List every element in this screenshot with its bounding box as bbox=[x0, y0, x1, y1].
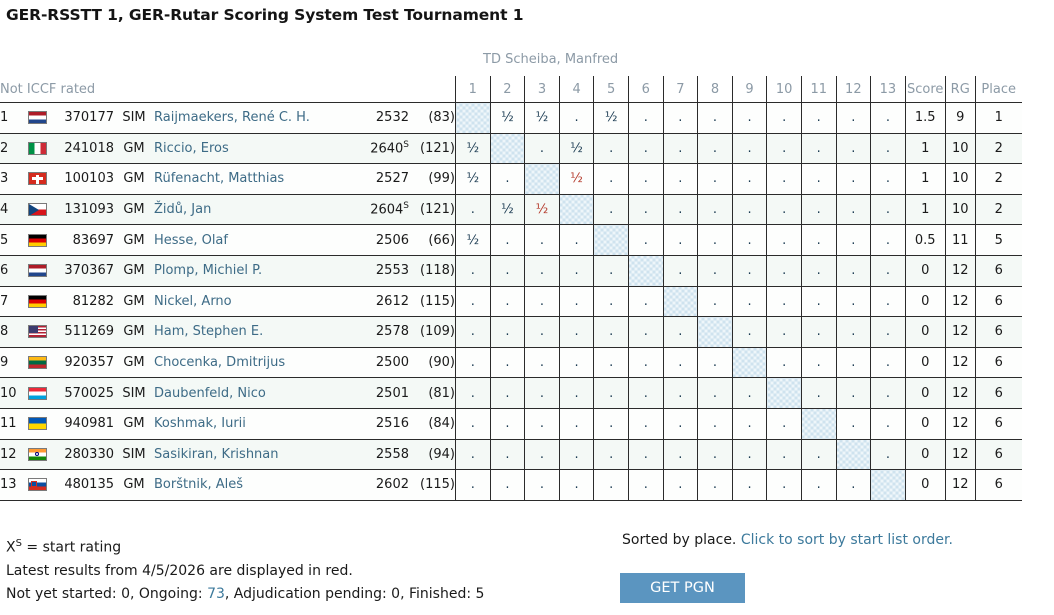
result-cell[interactable]: . bbox=[628, 133, 663, 164]
result-cell[interactable]: . bbox=[663, 470, 698, 501]
result-cell[interactable]: . bbox=[525, 378, 560, 409]
result-cell[interactable]: . bbox=[594, 408, 629, 439]
result-cell[interactable]: . bbox=[559, 225, 594, 256]
result-cell[interactable]: . bbox=[663, 164, 698, 195]
player-score: 1 bbox=[905, 133, 945, 164]
result-cell[interactable]: . bbox=[871, 225, 906, 256]
header-round-3: 3 bbox=[525, 76, 560, 103]
result-cell[interactable]: . bbox=[801, 103, 836, 134]
player-rg: 12 bbox=[945, 317, 975, 348]
legend-text: = start rating bbox=[22, 540, 121, 556]
result-cell[interactable]: . bbox=[801, 194, 836, 225]
result-cell[interactable]: . bbox=[456, 378, 491, 409]
result-cell[interactable]: . bbox=[698, 378, 733, 409]
result-cell[interactable]: . bbox=[801, 255, 836, 286]
result-cell[interactable]: . bbox=[871, 347, 906, 378]
result-cell[interactable]: . bbox=[732, 255, 767, 286]
result-cell[interactable]: . bbox=[663, 439, 698, 470]
result-cell[interactable]: . bbox=[628, 439, 663, 470]
result-cell[interactable]: . bbox=[628, 347, 663, 378]
player-place: 6 bbox=[975, 408, 1022, 439]
player-id[interactable]: 81282 bbox=[52, 286, 114, 317]
player-id[interactable]: 570025 bbox=[52, 378, 114, 409]
player-rank: 13 bbox=[0, 470, 22, 501]
result-cell[interactable]: . bbox=[767, 133, 802, 164]
country-flag-icon bbox=[22, 378, 52, 409]
result-cell[interactable]: ½ bbox=[456, 133, 491, 164]
result-cell[interactable]: . bbox=[490, 225, 525, 256]
result-cell[interactable]: . bbox=[698, 255, 733, 286]
flag-ger-icon bbox=[28, 295, 47, 308]
result-cell[interactable]: ½ bbox=[594, 103, 629, 134]
player-place: 2 bbox=[975, 133, 1022, 164]
result-cell[interactable]: . bbox=[801, 439, 836, 470]
player-place: 6 bbox=[975, 286, 1022, 317]
result-cell[interactable]: . bbox=[732, 164, 767, 195]
result-cell[interactable]: . bbox=[801, 317, 836, 348]
result-cell[interactable]: . bbox=[559, 286, 594, 317]
player-name[interactable]: Hesse, Olaf bbox=[154, 225, 349, 256]
player-games-count: (115) bbox=[409, 470, 456, 501]
player-title: GM bbox=[114, 194, 154, 225]
result-cell[interactable]: . bbox=[628, 194, 663, 225]
result-cell[interactable]: . bbox=[767, 347, 802, 378]
player-id[interactable]: 131093 bbox=[52, 194, 114, 225]
result-cell[interactable]: . bbox=[594, 255, 629, 286]
country-flag-icon bbox=[22, 439, 52, 470]
result-cell[interactable]: . bbox=[767, 470, 802, 501]
result-cell[interactable]: . bbox=[698, 470, 733, 501]
result-cell-self bbox=[559, 194, 594, 225]
result-cell[interactable]: ½ bbox=[559, 133, 594, 164]
result-cell[interactable]: ½ bbox=[525, 103, 560, 134]
result-cell[interactable]: . bbox=[836, 255, 871, 286]
player-title: GM bbox=[114, 347, 154, 378]
result-cell[interactable]: . bbox=[698, 194, 733, 225]
result-cell[interactable]: . bbox=[525, 255, 560, 286]
result-cell[interactable]: . bbox=[732, 439, 767, 470]
player-rg: 12 bbox=[945, 255, 975, 286]
result-cell-self bbox=[525, 164, 560, 195]
result-cell[interactable]: . bbox=[525, 286, 560, 317]
result-cell[interactable]: . bbox=[456, 439, 491, 470]
header-place[interactable]: Place bbox=[975, 76, 1022, 103]
result-cell[interactable]: . bbox=[594, 439, 629, 470]
result-cell[interactable]: . bbox=[836, 286, 871, 317]
player-rating: 2500 bbox=[349, 347, 409, 378]
header-round-8: 8 bbox=[698, 76, 733, 103]
result-cell[interactable]: . bbox=[456, 255, 491, 286]
result-cell[interactable]: . bbox=[559, 378, 594, 409]
player-place: 5 bbox=[975, 225, 1022, 256]
player-games-count: (109) bbox=[409, 317, 456, 348]
player-title: GM bbox=[114, 164, 154, 195]
result-cell[interactable]: . bbox=[628, 408, 663, 439]
result-cell[interactable]: . bbox=[559, 255, 594, 286]
page-title: GER-RSSTT 1, GER-Rutar Scoring System Te… bbox=[6, 6, 523, 24]
result-cell[interactable]: . bbox=[836, 408, 871, 439]
result-cell[interactable]: . bbox=[698, 103, 733, 134]
result-cell[interactable]: . bbox=[698, 133, 733, 164]
get-pgn-button[interactable]: GET PGN bbox=[620, 573, 745, 603]
result-cell[interactable]: . bbox=[490, 347, 525, 378]
player-score: 0 bbox=[905, 286, 945, 317]
player-id[interactable]: 83697 bbox=[52, 225, 114, 256]
player-rg: 12 bbox=[945, 347, 975, 378]
result-cell[interactable]: . bbox=[836, 164, 871, 195]
player-rank: 6 bbox=[0, 255, 22, 286]
result-cell[interactable]: . bbox=[801, 470, 836, 501]
result-cell[interactable]: . bbox=[559, 317, 594, 348]
result-cell[interactable]: . bbox=[663, 347, 698, 378]
result-cell[interactable]: . bbox=[525, 317, 560, 348]
player-name[interactable]: Plomp, Michiel P. bbox=[154, 255, 349, 286]
player-rank: 9 bbox=[0, 347, 22, 378]
player-rating: 2604S bbox=[349, 194, 409, 225]
result-cell[interactable]: . bbox=[801, 225, 836, 256]
result-cell[interactable]: . bbox=[663, 317, 698, 348]
result-cell[interactable]: . bbox=[871, 164, 906, 195]
player-rating: 2553 bbox=[349, 255, 409, 286]
result-cell[interactable]: . bbox=[525, 408, 560, 439]
result-cell[interactable]: . bbox=[490, 470, 525, 501]
result-cell-self bbox=[628, 255, 663, 286]
result-cell[interactable]: . bbox=[767, 225, 802, 256]
result-cell[interactable]: . bbox=[871, 133, 906, 164]
player-rank: 3 bbox=[0, 164, 22, 195]
result-cell[interactable]: . bbox=[836, 225, 871, 256]
result-cell[interactable]: . bbox=[628, 317, 663, 348]
result-cell[interactable]: . bbox=[767, 439, 802, 470]
result-cell[interactable]: ½ bbox=[490, 103, 525, 134]
result-cell[interactable]: . bbox=[732, 378, 767, 409]
result-cell-self bbox=[836, 439, 871, 470]
player-rating: 2612 bbox=[349, 286, 409, 317]
player-score: 1.5 bbox=[905, 103, 945, 134]
result-cell[interactable]: . bbox=[801, 378, 836, 409]
result-cell[interactable]: . bbox=[732, 286, 767, 317]
result-cell[interactable]: . bbox=[836, 470, 871, 501]
result-cell[interactable]: . bbox=[490, 408, 525, 439]
result-cell[interactable]: . bbox=[836, 317, 871, 348]
player-id[interactable]: 370177 bbox=[52, 103, 114, 134]
table-row: 6370367GMPlomp, Michiel P.2553(118).....… bbox=[0, 255, 1022, 286]
result-cell[interactable]: . bbox=[801, 164, 836, 195]
player-rg: 12 bbox=[945, 439, 975, 470]
country-flag-icon bbox=[22, 164, 52, 195]
player-place: 6 bbox=[975, 255, 1022, 286]
flag-slo-icon bbox=[28, 478, 47, 491]
result-cell[interactable]: . bbox=[698, 286, 733, 317]
result-cell[interactable]: . bbox=[801, 133, 836, 164]
flag-sui-icon bbox=[28, 172, 47, 185]
flag-lux-icon bbox=[28, 387, 47, 400]
result-cell[interactable]: . bbox=[732, 317, 767, 348]
result-cell[interactable]: . bbox=[628, 378, 663, 409]
ongoing-count[interactable]: 73 bbox=[207, 586, 225, 602]
result-cell[interactable]: ½ bbox=[456, 164, 491, 195]
result-cell[interactable]: . bbox=[594, 164, 629, 195]
player-name[interactable]: Židů, Jan bbox=[154, 194, 349, 225]
player-id[interactable]: 940981 bbox=[52, 408, 114, 439]
result-cell[interactable]: . bbox=[663, 133, 698, 164]
result-cell[interactable]: . bbox=[594, 286, 629, 317]
result-cell[interactable]: . bbox=[559, 408, 594, 439]
flag-ukr-icon bbox=[28, 417, 47, 430]
table-row: 13480135GMBorštnik, Aleš2602(115).......… bbox=[0, 470, 1022, 501]
player-name[interactable]: Sasikiran, Krishnan bbox=[154, 439, 349, 470]
player-games-count: (94) bbox=[409, 439, 456, 470]
result-cell[interactable]: . bbox=[525, 225, 560, 256]
result-cell[interactable]: . bbox=[628, 225, 663, 256]
header-row: Not ICCF rated 12345678910111213ScoreRGP… bbox=[0, 76, 1022, 103]
player-id[interactable]: 480135 bbox=[52, 470, 114, 501]
not-iccf-rated-label: Not ICCF rated bbox=[0, 76, 456, 103]
result-cell[interactable]: . bbox=[767, 255, 802, 286]
result-cell[interactable]: . bbox=[490, 439, 525, 470]
country-flag-icon bbox=[22, 286, 52, 317]
player-name[interactable]: Riccio, Eros bbox=[154, 133, 349, 164]
result-cell[interactable]: . bbox=[871, 194, 906, 225]
player-title: GM bbox=[114, 470, 154, 501]
flag-ger-icon bbox=[28, 234, 47, 247]
country-flag-icon bbox=[22, 317, 52, 348]
player-id[interactable]: 370367 bbox=[52, 255, 114, 286]
table-row: 781282GMNickel, Arno2612(115)...........… bbox=[0, 286, 1022, 317]
sorted-by-label: Sorted by place. bbox=[622, 532, 741, 548]
result-cell[interactable]: . bbox=[559, 470, 594, 501]
player-name[interactable]: Nickel, Arno bbox=[154, 286, 349, 317]
player-id[interactable]: 280330 bbox=[52, 439, 114, 470]
result-cell[interactable]: . bbox=[698, 164, 733, 195]
result-cell[interactable]: . bbox=[663, 225, 698, 256]
flag-cze-icon bbox=[28, 203, 47, 216]
result-cell[interactable]: . bbox=[663, 378, 698, 409]
table-row: 4131093GMŽidů, Jan2604S(121).½½.........… bbox=[0, 194, 1022, 225]
result-cell[interactable]: . bbox=[767, 408, 802, 439]
player-rg: 12 bbox=[945, 408, 975, 439]
result-cell[interactable]: . bbox=[456, 470, 491, 501]
player-games-count: (81) bbox=[409, 378, 456, 409]
player-rank: 7 bbox=[0, 286, 22, 317]
player-rg: 11 bbox=[945, 225, 975, 256]
sort-by-start-list-link[interactable]: Click to sort by start list order. bbox=[741, 532, 953, 548]
result-cell-self bbox=[663, 286, 698, 317]
result-cell[interactable]: . bbox=[663, 408, 698, 439]
result-cell[interactable]: . bbox=[767, 103, 802, 134]
result-cell[interactable]: . bbox=[559, 347, 594, 378]
result-cell[interactable]: . bbox=[871, 378, 906, 409]
player-name[interactable]: Chocenka, Dmitrijus bbox=[154, 347, 349, 378]
result-cell[interactable]: . bbox=[525, 133, 560, 164]
result-cell[interactable]: . bbox=[490, 255, 525, 286]
header-round-1: 1 bbox=[456, 76, 491, 103]
result-cell[interactable]: . bbox=[801, 286, 836, 317]
result-cell[interactable]: . bbox=[767, 317, 802, 348]
result-cell[interactable]: . bbox=[594, 194, 629, 225]
player-games-count: (83) bbox=[409, 103, 456, 134]
player-rank: 10 bbox=[0, 378, 22, 409]
result-cell[interactable]: . bbox=[525, 439, 560, 470]
result-cell[interactable]: . bbox=[836, 347, 871, 378]
result-cell[interactable]: . bbox=[456, 194, 491, 225]
result-cell[interactable]: . bbox=[698, 347, 733, 378]
result-cell[interactable]: . bbox=[594, 470, 629, 501]
header-round-2: 2 bbox=[490, 76, 525, 103]
player-id[interactable]: 100103 bbox=[52, 164, 114, 195]
player-score: 0 bbox=[905, 317, 945, 348]
player-name[interactable]: Koshmak, Iurii bbox=[154, 408, 349, 439]
player-title: GM bbox=[114, 225, 154, 256]
result-cell[interactable]: . bbox=[594, 347, 629, 378]
player-place: 6 bbox=[975, 439, 1022, 470]
result-cell[interactable]: . bbox=[663, 103, 698, 134]
result-cell[interactable]: . bbox=[663, 194, 698, 225]
player-place: 6 bbox=[975, 470, 1022, 501]
result-cell[interactable]: . bbox=[732, 103, 767, 134]
player-rating: 2506 bbox=[349, 225, 409, 256]
country-flag-icon bbox=[22, 225, 52, 256]
result-cell[interactable]: ½ bbox=[456, 225, 491, 256]
player-rating: 2640S bbox=[349, 133, 409, 164]
result-cell[interactable]: . bbox=[871, 317, 906, 348]
player-rg: 9 bbox=[945, 103, 975, 134]
result-cell[interactable]: . bbox=[456, 408, 491, 439]
result-cell[interactable]: . bbox=[525, 347, 560, 378]
result-cell[interactable]: . bbox=[594, 133, 629, 164]
result-cell[interactable]: . bbox=[628, 164, 663, 195]
sort-info: Sorted by place. Click to sort by start … bbox=[622, 532, 953, 548]
crosstable-header: Not ICCF rated 12345678910111213ScoreRGP… bbox=[0, 76, 1022, 103]
player-title: SIM bbox=[114, 103, 154, 134]
result-cell[interactable]: . bbox=[594, 378, 629, 409]
result-cell[interactable]: . bbox=[767, 164, 802, 195]
result-cell[interactable]: . bbox=[836, 103, 871, 134]
result-cell[interactable]: . bbox=[732, 225, 767, 256]
result-cell[interactable]: . bbox=[490, 317, 525, 348]
result-cell[interactable]: . bbox=[525, 470, 560, 501]
result-cell[interactable]: . bbox=[490, 378, 525, 409]
player-rank: 2 bbox=[0, 133, 22, 164]
player-id[interactable]: 920357 bbox=[52, 347, 114, 378]
result-cell[interactable]: . bbox=[871, 439, 906, 470]
latest-results-note: Latest results from 4/5/2026 are display… bbox=[6, 560, 484, 583]
player-score: 1 bbox=[905, 164, 945, 195]
result-cell[interactable]: . bbox=[836, 378, 871, 409]
crosstable: Not ICCF rated 12345678910111213ScoreRGP… bbox=[0, 76, 1022, 501]
player-rating: 2532 bbox=[349, 103, 409, 134]
legend-x: X bbox=[6, 540, 16, 556]
player-games-count: (99) bbox=[409, 164, 456, 195]
player-name[interactable]: Ham, Stephen E. bbox=[154, 317, 349, 348]
result-cell[interactable]: ½ bbox=[559, 164, 594, 195]
result-cell[interactable]: . bbox=[594, 317, 629, 348]
result-cell[interactable]: . bbox=[456, 317, 491, 348]
country-flag-icon bbox=[22, 347, 52, 378]
table-row: 2241018GMRiccio, Eros2640S(121)½.½......… bbox=[0, 133, 1022, 164]
player-name[interactable]: Rüfenacht, Matthias bbox=[154, 164, 349, 195]
player-place: 1 bbox=[975, 103, 1022, 134]
player-rating: 2602 bbox=[349, 470, 409, 501]
crosstable-body: 1370177SIMRaijmaekers, René C. H.2532(83… bbox=[0, 103, 1022, 501]
result-cell[interactable]: . bbox=[732, 194, 767, 225]
result-cell[interactable]: . bbox=[456, 347, 491, 378]
tournament-director: TD Scheiba, Manfred bbox=[483, 52, 618, 67]
header-round-12: 12 bbox=[836, 76, 871, 103]
table-row: 1370177SIMRaijmaekers, René C. H.2532(83… bbox=[0, 103, 1022, 134]
result-cell[interactable]: . bbox=[698, 439, 733, 470]
header-round-9: 9 bbox=[732, 76, 767, 103]
table-row: 8511269GMHam, Stephen E.2578(109).......… bbox=[0, 317, 1022, 348]
header-score[interactable]: Score bbox=[905, 76, 945, 103]
player-place: 2 bbox=[975, 164, 1022, 195]
player-name[interactable]: Daubenfeld, Nico bbox=[154, 378, 349, 409]
result-cell[interactable]: . bbox=[767, 194, 802, 225]
result-cell[interactable]: . bbox=[698, 225, 733, 256]
result-cell[interactable]: . bbox=[490, 286, 525, 317]
result-cell[interactable]: . bbox=[628, 470, 663, 501]
player-games-count: (84) bbox=[409, 408, 456, 439]
table-row: 12280330SIMSasikiran, Krishnan2558(94)..… bbox=[0, 439, 1022, 470]
player-rating: 2501 bbox=[349, 378, 409, 409]
result-cell[interactable]: . bbox=[628, 103, 663, 134]
player-name[interactable]: Raijmaekers, René C. H. bbox=[154, 103, 349, 134]
result-cell[interactable]: . bbox=[628, 286, 663, 317]
player-rg: 12 bbox=[945, 378, 975, 409]
result-cell[interactable]: . bbox=[490, 164, 525, 195]
player-rg: 12 bbox=[945, 286, 975, 317]
player-score: 0 bbox=[905, 255, 945, 286]
result-cell[interactable]: . bbox=[871, 286, 906, 317]
player-place: 6 bbox=[975, 317, 1022, 348]
player-id[interactable]: 241018 bbox=[52, 133, 114, 164]
header-rg[interactable]: RG bbox=[945, 76, 975, 103]
player-rg: 10 bbox=[945, 194, 975, 225]
result-cell[interactable]: . bbox=[871, 103, 906, 134]
result-cell[interactable]: . bbox=[559, 103, 594, 134]
result-cell[interactable]: . bbox=[559, 439, 594, 470]
result-cell[interactable]: . bbox=[732, 408, 767, 439]
country-flag-icon bbox=[22, 103, 52, 134]
result-cell-self bbox=[456, 103, 491, 134]
result-cell[interactable]: ½ bbox=[525, 194, 560, 225]
result-cell[interactable]: . bbox=[663, 255, 698, 286]
player-score: 0 bbox=[905, 347, 945, 378]
result-cell[interactable]: . bbox=[871, 408, 906, 439]
player-rg: 12 bbox=[945, 470, 975, 501]
result-cell[interactable]: . bbox=[732, 470, 767, 501]
result-cell[interactable]: . bbox=[456, 286, 491, 317]
result-cell[interactable]: . bbox=[767, 286, 802, 317]
player-score: 0 bbox=[905, 378, 945, 409]
player-games-count: (90) bbox=[409, 347, 456, 378]
result-cell[interactable]: ½ bbox=[490, 194, 525, 225]
country-flag-icon bbox=[22, 255, 52, 286]
player-name[interactable]: Borštnik, Aleš bbox=[154, 470, 349, 501]
table-row: 583697GMHesse, Olaf2506(66)½...........0… bbox=[0, 225, 1022, 256]
result-cell[interactable]: . bbox=[698, 408, 733, 439]
result-cell[interactable]: . bbox=[836, 133, 871, 164]
player-place: 6 bbox=[975, 347, 1022, 378]
result-cell[interactable]: . bbox=[836, 194, 871, 225]
table-row: 9920357GMChocenka, Dmitrijus2500(90)....… bbox=[0, 347, 1022, 378]
player-title: GM bbox=[114, 408, 154, 439]
result-cell[interactable]: . bbox=[801, 347, 836, 378]
result-cell[interactable]: . bbox=[732, 133, 767, 164]
player-score: 0 bbox=[905, 470, 945, 501]
result-cell[interactable]: . bbox=[871, 255, 906, 286]
player-id[interactable]: 511269 bbox=[52, 317, 114, 348]
